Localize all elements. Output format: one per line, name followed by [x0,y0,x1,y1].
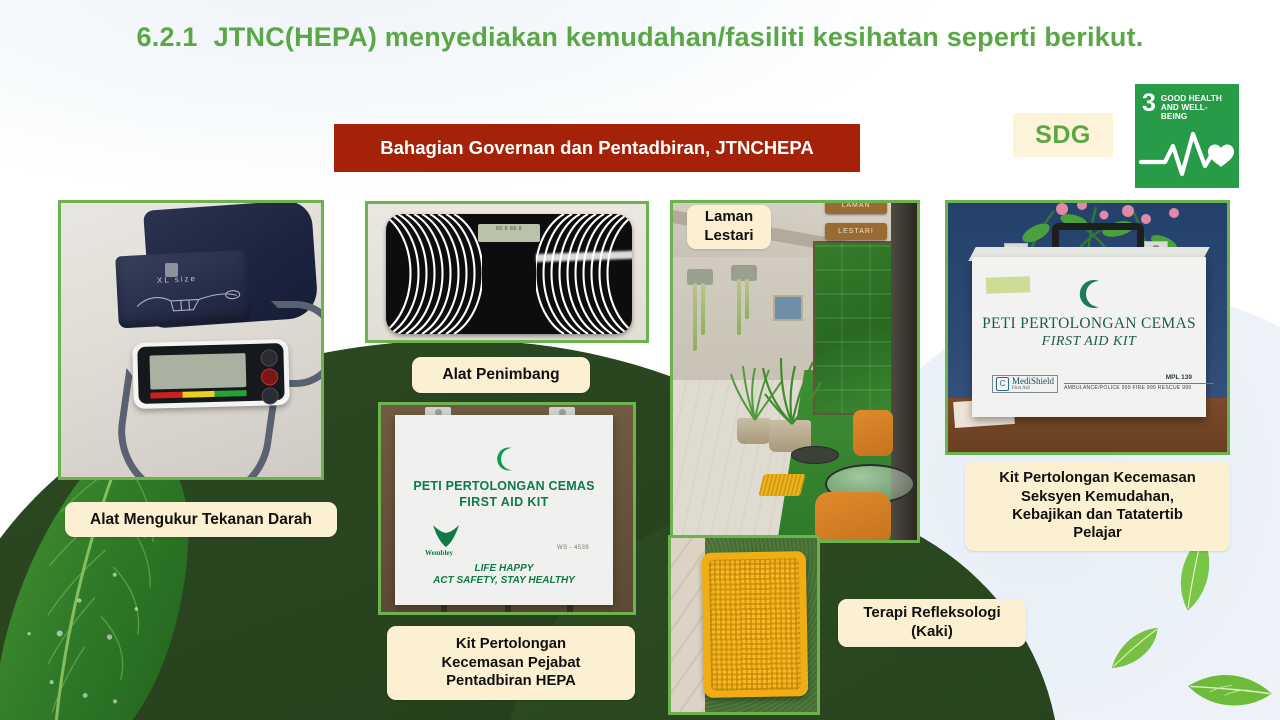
caption-blood-pressure: Alat Mengukur Tekanan Darah [65,502,337,537]
garden-reflexology-mat [758,474,805,496]
caption-kit-right-line2: Seksyen Kemudahan, [999,488,1196,506]
caption-blood-pressure-text: Alat Mengukur Tekanan Darah [90,510,312,529]
kit-title: PETI PERTOLONGAN CEMAS [972,315,1206,333]
sdg-goal-line1: GOOD HEALTH [1161,94,1233,103]
caption-kit-right-line1: Kit Pertolongan Kecemasan [999,469,1196,487]
caption-kit-mid-line1: Kit Pertolongan [441,635,580,653]
caption-weighing-scale-text: Alat Penimbang [442,365,559,384]
garden-sign-line1: LAMAN [825,203,887,214]
chair-back [853,410,893,456]
kit-title: PETI PERTOLONGAN CEMAS [395,479,613,493]
garden-sign-line2: LESTARI [825,223,887,240]
wall-picture [773,295,803,321]
caption-first-aid-kit-hepa: Kit Pertolongan Kecemasan Pejabat Pentad… [387,626,635,700]
kit-model-number: MPL 139 [1166,374,1192,381]
medishield-icon: C [996,377,1009,391]
department-banner: Bahagian Governan dan Pentadbiran, JTNCH… [334,124,860,172]
caption-kit-right-line4: Pelajar [999,524,1196,542]
crescent-icon [490,445,518,473]
caption-kit-mid-line3: Pentadbiran HEPA [441,672,580,690]
sdg-goal-3-logo: 3 GOOD HEALTH AND WELL-BEING [1135,84,1239,188]
slide-title: 6.2.1JTNC(HEPA) menyediakan kemudahan/fa… [0,22,1280,53]
caption-garden-line1: Laman [704,208,753,227]
slide-canvas: 6.2.1JTNC(HEPA) menyediakan kemudahan/fa… [0,0,1280,720]
photo-weighing-scale: 88.8 88.8 [365,201,649,343]
sdg-tag: SDG [1013,113,1113,157]
caption-mat-line2: (Kaki) [863,623,1000,642]
photo-blood-pressure-monitor: XL size [58,200,324,480]
kit-slogan-line1: LIFE HAPPY [395,563,613,574]
photo-first-aid-kit-facilities: PETI PERTOLONGAN CEMAS FIRST AID KIT C M… [945,200,1230,455]
photo-first-aid-kit-hepa: PETI PERTOLONGAN CEMAS FIRST AID KIT Wem… [378,402,636,615]
caption-laman-lestari: Laman Lestari [687,205,771,249]
kit-brand-name: Wembley [425,549,453,557]
sdg-tag-label: SDG [1035,121,1091,150]
sdg-goal-number: 3 [1142,92,1156,116]
title-number: 6.2.1 [137,22,198,52]
heartbeat-heart-icon [1135,126,1239,184]
caption-kit-mid-line2: Kecemasan Pejabat [441,654,580,672]
palm-plant-icon [761,354,823,426]
caption-first-aid-kit-facilities: Kit Pertolongan Kecemasan Seksyen Kemuda… [965,461,1230,551]
caption-mat-line1: Terapi Refleksologi [863,604,1000,623]
caption-reflexology-mat: Terapi Refleksologi (Kaki) [838,599,1026,647]
kit-brand-block: C MediShield First Aid [992,375,1058,393]
kit-brand-name: MediShield [1012,376,1054,386]
photo-laman-lestari: LAMAN LESTARI [670,200,920,543]
title-text: JTNC(HEPA) menyediakan kemudahan/fasilit… [214,22,1144,52]
caption-weighing-scale: Alat Penimbang [412,357,590,393]
crescent-icon [1072,277,1106,311]
kit-slogan-line2: ACT SAFETY, STAY HEALTHY [395,575,613,586]
kit-subtitle: FIRST AID KIT [395,495,613,509]
kit-subtitle: FIRST AID KIT [972,334,1206,350]
kit-emergency-numbers: AMBULANCE/POLICE 999 FIRE 999 RESCUE 999 [1064,383,1214,391]
scale-display: 88.8 88.8 [478,224,540,242]
cuff-diagram-icon [132,285,243,319]
caption-kit-right-line3: Kebajikan dan Tatatertib [999,506,1196,524]
chair-front [815,492,891,540]
caption-garden-line2: Lestari [704,227,753,246]
reflexology-mat-object [702,551,809,698]
kit-model-number: WS - 4539 [557,545,589,551]
sdg-goal-line2: AND WELL-BEING [1161,103,1233,121]
wembley-logo-icon [431,523,461,549]
kit-brand-sub: First Aid [1012,386,1054,391]
department-banner-label: Bahagian Governan dan Pentadbiran, JTNCH… [380,137,813,159]
kit-label-tape [986,276,1031,294]
scale-display-value: 88.8 88.8 [478,224,540,232]
photo-reflexology-mat [668,535,820,715]
